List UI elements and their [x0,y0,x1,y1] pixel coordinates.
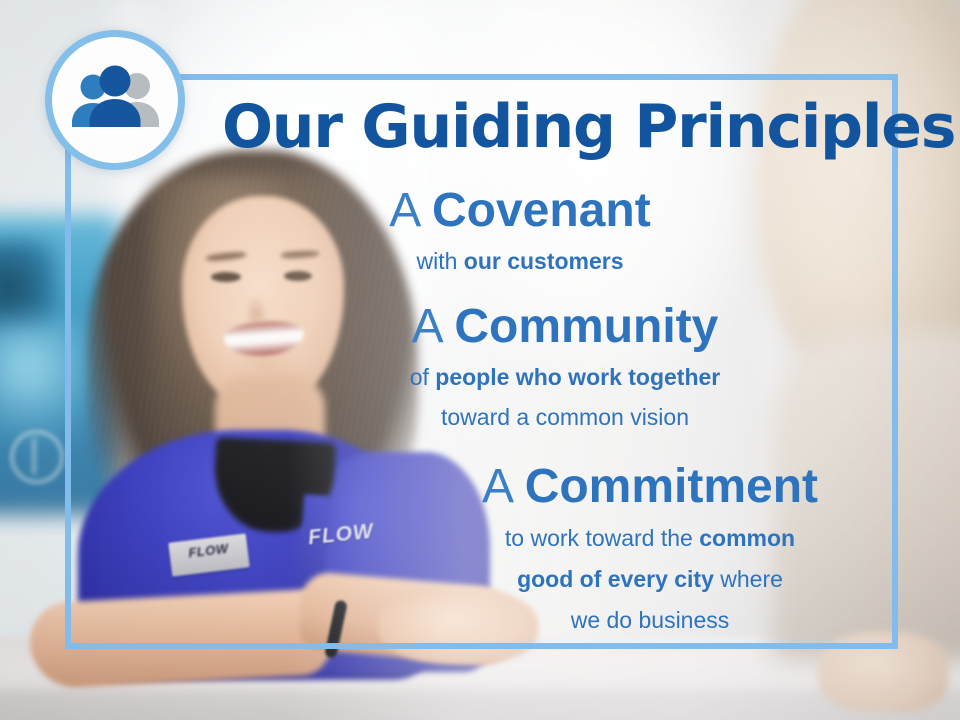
page-title: Our Guiding Principles [222,96,882,158]
principle-community-keyword: Community [454,300,718,353]
principle-commitment-keyword: Commitment [525,460,818,513]
principle-commitment-sub-line-2: good of every city where [420,565,880,595]
employee-left-arm [28,588,332,690]
sub-text: of [410,364,436,390]
people-group-icon [45,30,185,170]
sub-text: toward a common vision [441,404,689,430]
employee-eye-left [211,272,241,282]
principle-commitment-sub-line-1: to work toward the common [420,524,880,554]
sub-text: where [714,566,783,592]
principle-community-article: A [412,300,441,353]
desk-edge [0,690,960,720]
principle-community-sub-line-1: of people who work together [330,363,800,393]
principle-community-sub-line-2: toward a common vision [330,403,800,433]
principle-commitment-heading: A Commitment [420,462,880,513]
sub-text: with [416,248,463,274]
principle-covenant-sub-line-1: with our customers [290,247,750,277]
blurred-vehicle-highlight [0,320,100,440]
sub-text-bold: our customers [464,248,624,274]
principle-commitment-article: A [482,460,511,513]
sub-text-bold: people who work together [435,364,720,390]
principle-covenant-article: A [389,184,418,237]
principle-commitment-sub-line-3: we do business [420,606,880,636]
sub-text-bold: good of every city [517,566,714,592]
sub-text: we do business [571,607,730,633]
principle-commitment: A Commitment to work toward the common g… [420,462,880,636]
sub-text: to work toward the [505,525,699,551]
principle-community-heading: A Community [330,302,800,353]
banner-image: FLOW FLOW Our Guiding Principles A [0,0,960,720]
blurred-wall-emblem [10,430,64,484]
employee-nose [248,296,268,322]
principle-covenant-keyword: Covenant [432,184,651,237]
principle-covenant-heading: A Covenant [290,186,750,237]
sub-text-bold: common [699,525,795,551]
customer-hand [818,632,948,712]
principle-covenant: A Covenant with our customers [290,186,750,277]
principle-community: A Community of people who work together … [330,302,800,433]
name-badge-logo-text: FLOW [169,539,248,561]
